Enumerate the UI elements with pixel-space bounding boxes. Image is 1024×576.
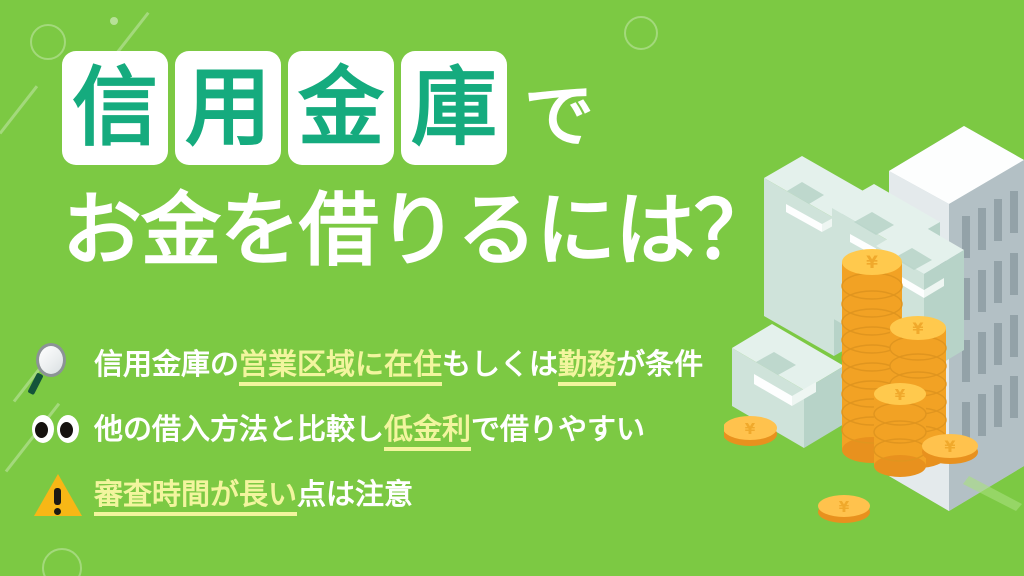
highlighted-text-run: 低金利 xyxy=(384,412,471,451)
eye-left xyxy=(32,415,54,443)
pupil-right xyxy=(60,422,73,438)
highlighted-text-run: 勤務 xyxy=(558,347,616,386)
eye-right xyxy=(57,415,79,443)
plain-text-run: が条件 xyxy=(616,347,703,381)
svg-text:¥: ¥ xyxy=(745,420,756,438)
warning-exclamation-bar xyxy=(54,488,61,505)
decor-circle-2 xyxy=(42,548,82,576)
bullet-item-0: 信用金庫の営業区域に在住もしくは勤務が条件 xyxy=(30,336,790,394)
svg-text:¥: ¥ xyxy=(944,437,955,456)
decor-dot-0 xyxy=(110,17,118,25)
kanji-box-1: 用 xyxy=(175,51,281,165)
decor-circle-1 xyxy=(624,16,658,50)
plain-text-run: もしくは xyxy=(442,347,558,381)
highlighted-text-run: 審査時間が長い xyxy=(94,477,297,516)
decor-line-1 xyxy=(0,85,38,134)
kanji-box-2: 金 xyxy=(288,51,394,165)
bullet-list: 信用金庫の営業区域に在住もしくは勤務が条件 他の借入方法と比較し低金利で借りやす… xyxy=(30,336,790,531)
svg-text:¥: ¥ xyxy=(866,253,878,273)
decor-circle-0 xyxy=(30,24,66,60)
pupil-left xyxy=(35,422,48,438)
bullet-item-2: 審査時間が長い点は注意 xyxy=(30,466,790,524)
plain-text-run: 点は注意 xyxy=(297,477,413,511)
warning-exclamation-dot xyxy=(54,508,61,515)
bullet-text-0: 信用金庫の営業区域に在住もしくは勤務が条件 xyxy=(94,349,703,381)
isometric-money-and-building-illustration: ¥ ¥ ¥ xyxy=(724,56,1024,576)
highlighted-text-run: 営業区域に在住 xyxy=(239,347,442,386)
title-line-1-tail: で xyxy=(524,81,594,151)
loose-yen-coin-right: ¥ xyxy=(922,434,978,464)
magnifying-glass-icon xyxy=(30,342,88,388)
plain-text-run: 他の借入方法と比較し xyxy=(94,412,384,446)
plain-text-run: 信用金庫の xyxy=(94,347,239,381)
svg-text:¥: ¥ xyxy=(912,319,923,338)
svg-text:¥: ¥ xyxy=(895,386,906,404)
warning-triangle-icon xyxy=(30,472,88,518)
magnifier-lens xyxy=(36,343,66,377)
bullet-text-1: 他の借入方法と比較し低金利で借りやすい xyxy=(94,414,645,446)
svg-text:¥: ¥ xyxy=(839,498,850,516)
kanji-box-0: 信 xyxy=(62,51,168,165)
yen-coin-stack-short: ¥ xyxy=(874,383,926,477)
plain-text-run: で借りやすい xyxy=(471,412,645,446)
loose-yen-coin-left: ¥ xyxy=(724,416,777,446)
magnifier-handle xyxy=(27,372,43,395)
loose-yen-coin-bottom: ¥ xyxy=(818,495,870,523)
poster-canvas: 信 用 金 庫 で お金を借りるには？ 信用金庫の営業区域に在住もしくは勤務が条… xyxy=(0,0,1024,576)
bullet-item-1: 他の借入方法と比較し低金利で借りやすい xyxy=(30,401,790,459)
eyes-icon xyxy=(30,407,88,453)
bullet-text-2: 審査時間が長い点は注意 xyxy=(94,479,413,511)
kanji-box-3: 庫 xyxy=(401,51,507,165)
